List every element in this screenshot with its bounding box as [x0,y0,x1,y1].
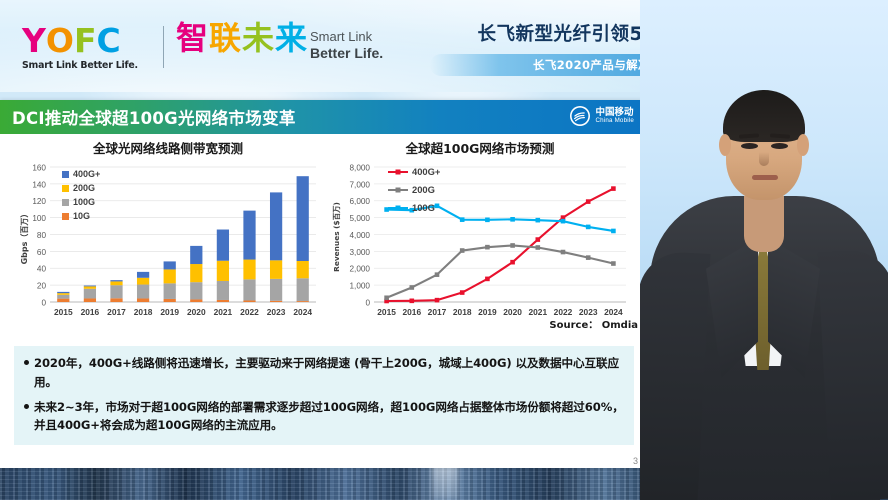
market-forecast-chart: 全球超100G网络市场预测 01,0002,0003,0004,0005,000… [330,138,630,342]
presenter-nose [759,152,769,166]
svg-text:2021: 2021 [214,307,233,317]
presenter-neck [744,196,784,252]
china-mobile-en: China Mobile [595,118,634,125]
svg-text:10G: 10G [73,211,90,221]
presenter-video [640,0,888,500]
list-item: 未来2~3年，市场对于超100G网络的部署需求逐步超过100G网络，超100G网… [24,398,624,436]
smartlink-en-logo: Smart Link Better Life. [310,30,383,61]
svg-text:2022: 2022 [240,307,259,317]
svg-text:2020: 2020 [187,307,206,317]
svg-text:40: 40 [37,265,47,274]
bullet-list: 2020年，400G+线路侧将迅速增长，主要驱动来于网络提速 (骨干上200G，… [14,346,634,445]
presenter-eye-right [771,143,788,149]
svg-text:4,000: 4,000 [350,231,371,240]
svg-text:2023: 2023 [267,307,286,317]
svg-text:Gbps（百万）: Gbps（百万） [19,210,29,265]
svg-text:100G: 100G [412,202,435,213]
svg-text:2015: 2015 [377,307,396,317]
presenter-eye-left [741,143,758,149]
svg-text:0: 0 [41,298,46,307]
cn-logo-char-1: 智 [176,22,209,54]
svg-text:80: 80 [37,231,47,240]
svg-text:2,000: 2,000 [350,265,371,274]
svg-text:200G: 200G [412,184,435,195]
svg-text:400G+: 400G+ [412,166,441,177]
yofc-logo: Y O F C Smart Link Better Life. [22,24,152,71]
presenter-ear-left [719,134,731,156]
svg-text:0: 0 [365,298,370,307]
svg-text:20: 20 [37,282,47,291]
svg-text:1,000: 1,000 [350,282,371,291]
cn-logo-char-4: 来 [275,22,308,54]
list-item: 2020年，400G+线路侧将迅速增长，主要驱动来于网络提速 (骨干上200G，… [24,354,624,392]
yofc-letter-o: O [46,24,73,57]
svg-text:2016: 2016 [402,307,421,317]
svg-text:2021: 2021 [528,307,547,317]
china-mobile-text: 中国移动 China Mobile [595,108,634,124]
cn-logo-char-3: 未 [242,22,275,54]
slide-title: DCI推动全球超100G光网络市场变革 [12,105,296,129]
right-chart-title: 全球超100G网络市场预测 [330,138,630,157]
svg-text:100G: 100G [73,197,95,207]
page-number: 3 [633,456,638,466]
svg-text:3,000: 3,000 [350,248,371,257]
svg-text:2019: 2019 [478,307,497,317]
svg-text:8,000: 8,000 [350,163,371,172]
presenter-shoulder-right [818,248,888,500]
bullet-text: 2020年，400G+线路侧将迅速增长，主要驱动来于网络提速 (骨干上200G，… [34,354,624,392]
svg-text:2018: 2018 [134,307,153,317]
slide-title-bar: DCI推动全球超100G光网络市场变革 中国移动 China Mobile [0,100,648,134]
svg-text:2017: 2017 [428,307,447,317]
svg-text:2019: 2019 [160,307,179,317]
smartlink-cn-logo: 智 联 未 来 [176,22,308,54]
svg-text:120: 120 [32,197,46,206]
svg-text:2024: 2024 [293,307,312,317]
source-note: Source： Omdia [549,316,638,331]
bullet-dot-icon [24,360,29,365]
presentation-slide: DCI推动全球超100G光网络市场变革 中国移动 China Mobile [0,100,648,468]
svg-text:5,000: 5,000 [350,214,371,223]
left-chart-plot: 0204060801001201401602015201620172018201… [16,159,320,342]
yofc-tagline: Smart Link Better Life. [22,60,152,71]
svg-text:2017: 2017 [107,307,126,317]
svg-text:7,000: 7,000 [350,180,371,189]
svg-text:2020: 2020 [503,307,522,317]
china-mobile-icon [570,106,590,126]
svg-text:60: 60 [37,248,47,257]
svg-text:160: 160 [32,163,46,172]
svg-text:400G+: 400G+ [73,169,100,179]
slide-screenshot: Y O F C Smart Link Better Life. 智 联 未 来 … [0,0,888,500]
presenter-ear-right [797,134,809,156]
yofc-letter-y: Y [22,24,45,57]
bullet-text: 未来2~3年，市场对于超100G网络的部署需求逐步超过100G网络，超100G网… [34,398,624,436]
svg-text:6,000: 6,000 [350,197,371,206]
china-mobile-logo: 中国移动 China Mobile [570,106,634,126]
svg-text:140: 140 [32,180,46,189]
svg-text:2016: 2016 [81,307,100,317]
svg-text:Revenues ($百万): Revenues ($百万) [332,202,341,272]
svg-text:2015: 2015 [54,307,73,317]
svg-text:100: 100 [32,214,46,223]
charts-area: 全球光网络线路侧带宽预测 020406080100120140160201520… [0,134,648,334]
bandwidth-forecast-chart: 全球光网络线路侧带宽预测 020406080100120140160201520… [16,138,320,342]
smartlink-line1: Smart Link [310,30,383,45]
cn-logo-char-2: 联 [209,22,242,54]
right-chart-plot: 01,0002,0003,0004,0005,0006,0007,0008,00… [330,159,630,342]
yofc-letter-c: C [97,24,120,57]
logo-divider [163,26,164,68]
bullet-dot-icon [24,404,29,409]
right-chart-svg: 01,0002,0003,0004,0005,0006,0007,0008,00… [330,159,630,337]
yofc-letter-f: F [74,24,96,57]
svg-text:200G: 200G [73,183,95,193]
svg-text:2018: 2018 [453,307,472,317]
left-chart-title: 全球光网络线路侧带宽预测 [16,138,320,157]
presenter-mouth [752,175,778,180]
yofc-wordmark: Y O F C [22,24,152,57]
left-chart-svg: 0204060801001201401602015201620172018201… [16,159,320,337]
smartlink-line2: Better Life. [310,45,383,61]
